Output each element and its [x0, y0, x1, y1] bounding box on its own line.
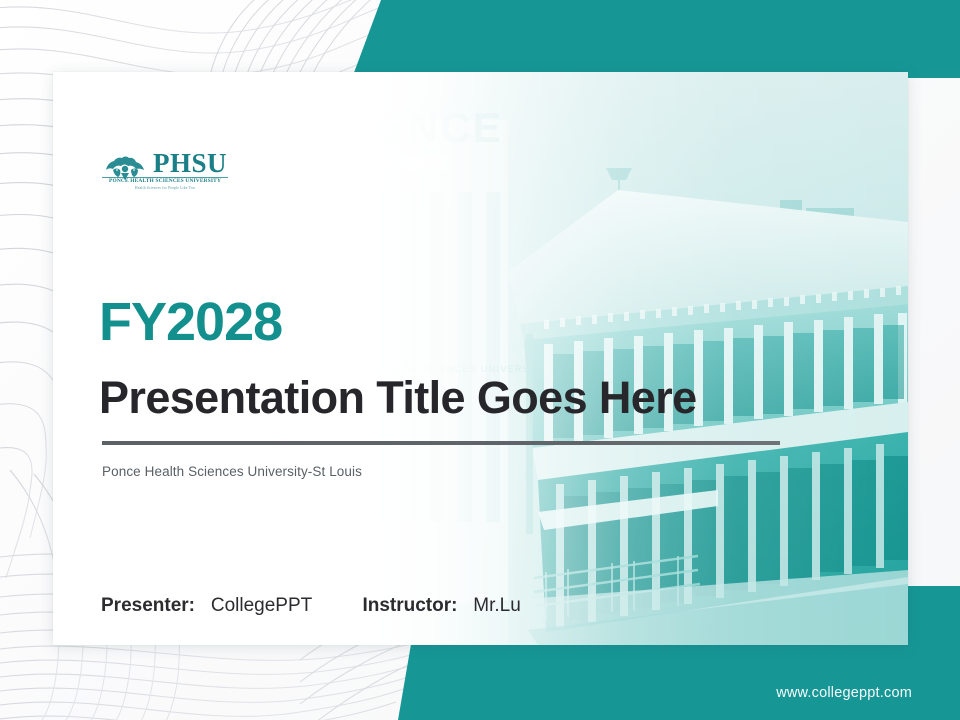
phsu-tagline: Health Sciences for People Like You [102, 186, 228, 190]
website-url[interactable]: www.collegeppt.com [776, 684, 912, 702]
page-title: Presentation Title Goes Here [99, 371, 697, 425]
horse-crest-icon [101, 150, 151, 180]
title-divider [102, 441, 780, 445]
credits-line: Presenter: CollegePPT Instructor: Mr.Lu [101, 593, 521, 619]
instructor-name: Mr.Lu [473, 595, 521, 616]
slide-card: CIENCE PONCE HEALTH SCIENCES UNIVERSITY [53, 72, 908, 645]
fiscal-year-heading: FY2028 [99, 293, 282, 351]
subtitle: Ponce Health Sciences University-St Loui… [102, 463, 362, 481]
slide-canvas: CIENCE PONCE HEALTH SCIENCES UNIVERSITY [0, 0, 960, 720]
presenter-name: CollegePPT [211, 595, 312, 616]
instructor-label: Instructor: [362, 595, 457, 616]
campus-photo: CIENCE PONCE HEALTH SCIENCES UNIVERSITY [288, 72, 908, 645]
phsu-logo: PHSU PONCE HEALTH SCIENCES UNIVERSITY He… [101, 148, 229, 196]
presenter-label: Presenter: [101, 595, 195, 616]
phsu-full-name: PONCE HEALTH SCIENCES UNIVERSITY [102, 178, 228, 184]
phsu-wordmark: PHSU [153, 148, 227, 178]
photo-white-fade [288, 72, 908, 645]
